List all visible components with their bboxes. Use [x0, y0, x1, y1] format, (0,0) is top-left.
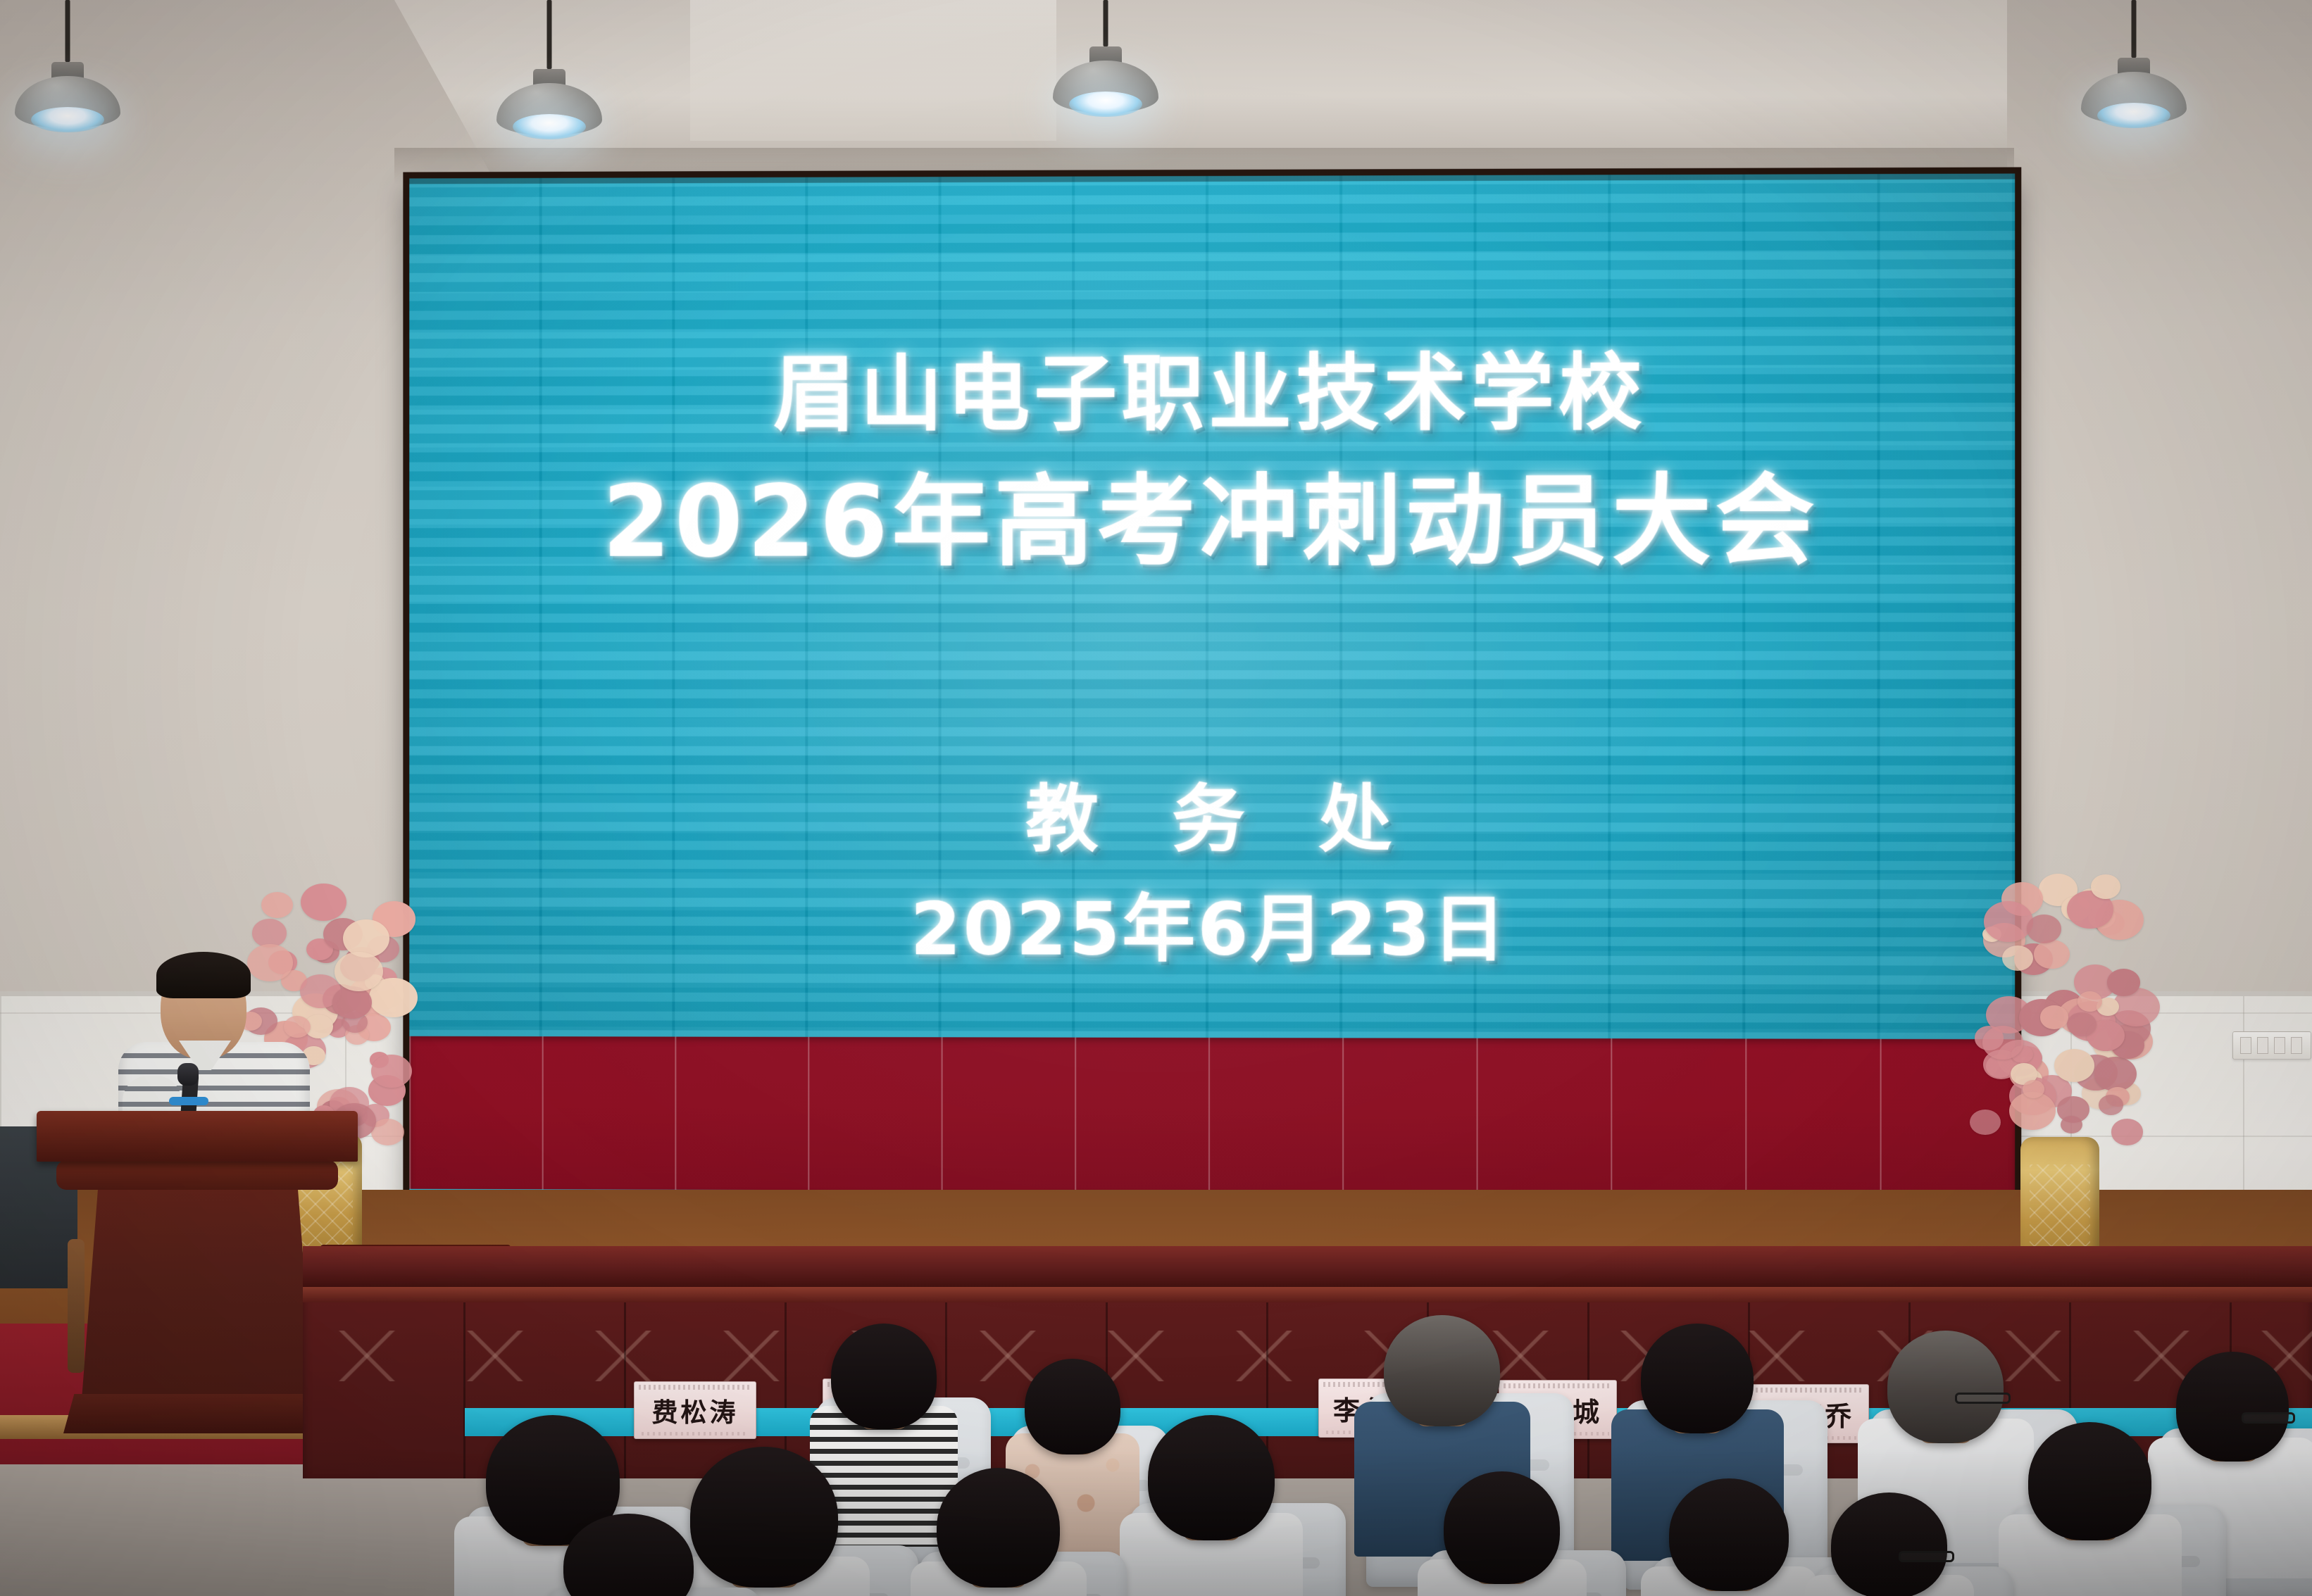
eyeglasses	[1955, 1393, 2011, 1404]
flower-bloom	[1984, 901, 2033, 941]
stage-front-cap-rail	[303, 1246, 2312, 1287]
flower-bloom	[2094, 1057, 2137, 1091]
flower-bloom	[2027, 915, 2062, 943]
flower-bloom	[1970, 1110, 2001, 1135]
audience-head	[1025, 1359, 1120, 1454]
placard-footer-line	[642, 1432, 749, 1435]
eyeglasses	[2242, 1412, 2295, 1424]
flower-bloom	[2034, 940, 2070, 969]
lamp-cord	[547, 0, 552, 69]
slide-school-name: 眉山电子职业技术学校	[773, 351, 1646, 436]
lamp-cord	[1104, 0, 1108, 46]
led-display-screen: 眉山电子职业技术学校 2026年高考冲刺动员大会 教 务 处 2025年6月23…	[409, 174, 2015, 1240]
audience-head	[690, 1447, 838, 1588]
lamp-cord	[2132, 0, 2137, 58]
flower-bloom	[2023, 1080, 2044, 1098]
lamp-glow	[513, 114, 586, 139]
speaker-hair	[156, 952, 251, 998]
flower-bloom	[2002, 945, 2033, 971]
audience-head	[1148, 1415, 1275, 1540]
flower-bloom	[371, 1119, 404, 1145]
placard-header-line	[1756, 1388, 1864, 1393]
audience-head	[1641, 1324, 1754, 1433]
audience-head	[1444, 1471, 1560, 1584]
flower-bloom	[261, 892, 293, 918]
lamp-cord	[65, 0, 70, 62]
light-switch-panel[interactable]	[2232, 1031, 2311, 1060]
audience-head	[1831, 1493, 1947, 1596]
lamp-glow	[1069, 92, 1142, 117]
lamp-glow	[31, 107, 104, 132]
chevron-motif	[1200, 1331, 1328, 1381]
chevron-motif	[303, 1331, 431, 1381]
flower-bloom	[371, 1055, 411, 1088]
flower-bloom	[1982, 1026, 2023, 1060]
audience-head	[1887, 1331, 2004, 1443]
podium-top-surface	[37, 1111, 358, 1162]
placard-header-line	[1504, 1383, 1612, 1388]
audience-head	[1669, 1478, 1789, 1591]
lamp-glow	[2097, 103, 2170, 128]
led-lower-maroon-band	[409, 1036, 2015, 1195]
audience-head	[937, 1468, 1060, 1588]
stage-front-chevron-inlay	[303, 1331, 2312, 1415]
podium-body	[82, 1188, 314, 1400]
soffit-highlight	[690, 0, 1056, 141]
audience-head	[1384, 1315, 1500, 1426]
slide-event-title: 2026年高考冲刺动员大会	[602, 472, 1819, 572]
stage-front-cap-highlight	[303, 1287, 2312, 1302]
flower-bloom	[2061, 1116, 2082, 1133]
panel-divider	[463, 1302, 465, 1478]
microphone-capsule	[177, 1063, 199, 1086]
flower-bloom	[2077, 991, 2102, 1012]
placard-name-text: 费松涛	[652, 1391, 739, 1429]
flower-bloom	[2107, 969, 2141, 996]
podium-neck	[56, 1160, 338, 1190]
panel-divider	[624, 1302, 626, 1478]
flower-bloom	[335, 952, 383, 992]
audience-head	[831, 1324, 937, 1429]
flower-bloom	[2054, 1049, 2094, 1082]
flower-bloom	[2067, 1012, 2097, 1036]
chevron-motif	[431, 1331, 559, 1381]
flower-bloom	[301, 884, 346, 921]
podium-base	[63, 1394, 334, 1433]
flower-bloom	[2111, 1119, 2144, 1145]
slide-date: 2025年6月23日	[910, 893, 1508, 967]
name-placard-fei-songtao: 费松涛	[634, 1381, 756, 1439]
chevron-motif	[559, 1331, 687, 1381]
flower-bloom	[252, 919, 287, 948]
speaker-podium	[49, 1111, 345, 1442]
audience-head	[2028, 1422, 2151, 1540]
microphone-blue-ring	[169, 1097, 208, 1105]
placard-header-line	[639, 1385, 751, 1390]
flower-arrangement-right	[1965, 873, 2155, 1281]
flower-bloom	[2099, 1095, 2123, 1115]
flower-bloom	[332, 986, 372, 1019]
flower-bloom	[2091, 874, 2121, 899]
slide-department: 教 务 处	[1001, 783, 1416, 856]
eyeglasses	[1899, 1551, 1954, 1562]
flower-blooms-right	[1965, 873, 2155, 1169]
auditorium-photo: 眉山电子职业技术学校 2026年高考冲刺动员大会 教 务 处 2025年6月23…	[0, 0, 2312, 1596]
flower-bloom	[2040, 1005, 2069, 1029]
audience-head	[2176, 1352, 2289, 1462]
chevron-motif	[687, 1331, 816, 1381]
